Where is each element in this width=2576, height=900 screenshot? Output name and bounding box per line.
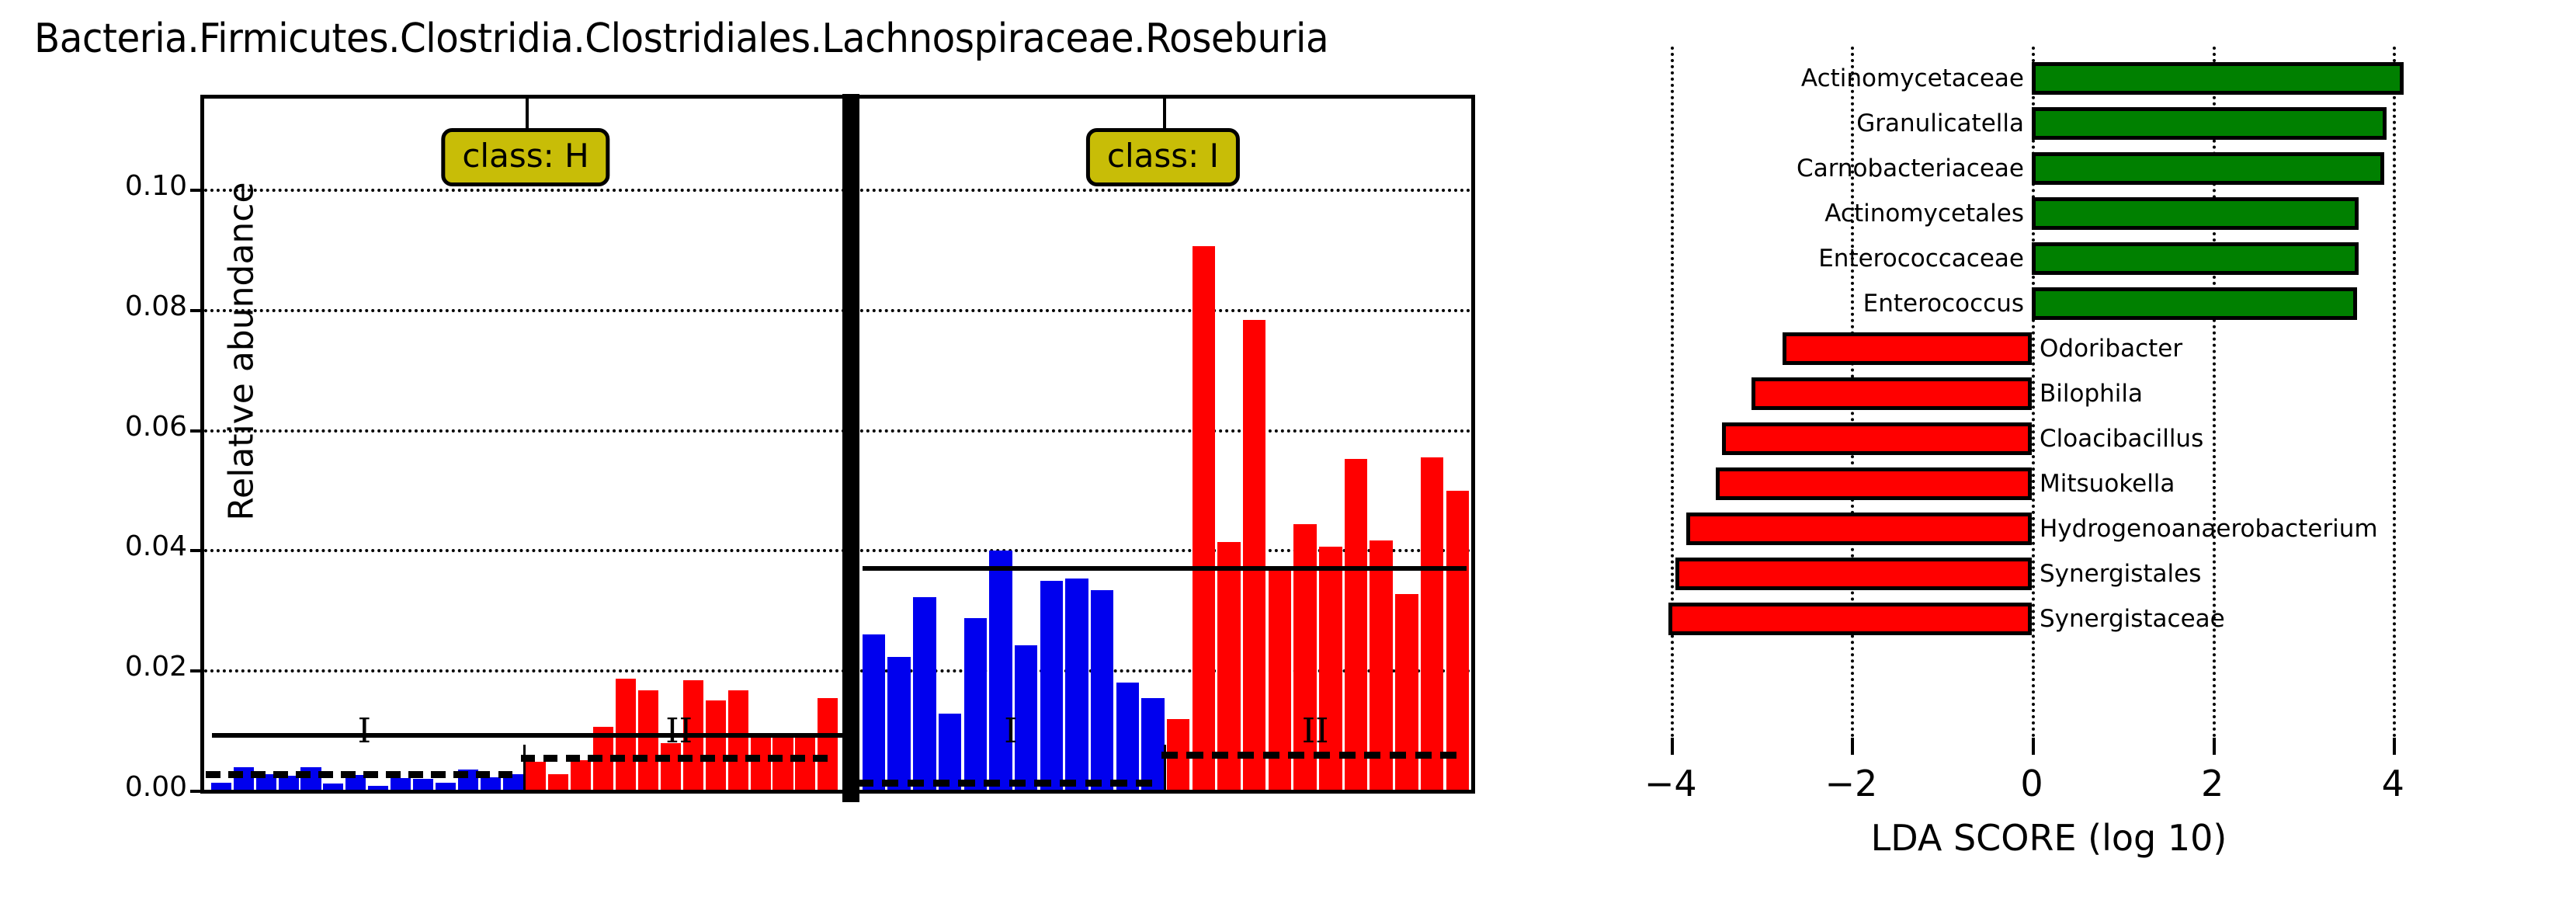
y-tick-mark	[190, 309, 204, 312]
median-marker	[610, 755, 625, 762]
y-tick-label: 0.04	[125, 530, 187, 562]
median-marker	[1339, 752, 1356, 759]
median-marker	[933, 780, 950, 787]
lda-bar	[1722, 422, 2032, 455]
median-marker	[588, 755, 602, 762]
class-mean-line	[212, 733, 842, 738]
abundance-plot-area: Relative abundance 0.000.020.040.060.080…	[200, 95, 1475, 794]
lda-bar-label: Actinomycetaceae	[1801, 62, 2024, 95]
abundance-bar	[1243, 320, 1265, 790]
lda-bar	[2032, 152, 2384, 185]
median-marker	[1314, 752, 1330, 759]
abundance-bar	[728, 690, 748, 790]
abundance-bar	[1446, 491, 1469, 790]
class-label-stem-h	[526, 99, 529, 130]
y-tick-label: 0.02	[125, 651, 187, 683]
abundance-bar	[548, 774, 568, 790]
median-marker	[1415, 752, 1432, 759]
abundance-bar	[939, 714, 961, 790]
lda-bar-label: Carnobacteriaceae	[1797, 152, 2024, 185]
abundance-bar	[989, 551, 1012, 790]
median-marker	[984, 780, 1000, 787]
median-marker	[1009, 780, 1026, 787]
median-marker	[1288, 752, 1304, 759]
abundance-bar	[391, 778, 411, 790]
abundance-bar	[211, 783, 231, 790]
abundance-bar	[887, 657, 910, 790]
y-tick-mark	[190, 549, 204, 552]
y-tick-label: 0.10	[125, 170, 187, 202]
lda-tick-mark	[2032, 738, 2035, 755]
panel-class-i: class: I	[855, 99, 1471, 790]
lda-tick-label: −4	[1624, 763, 1717, 804]
x-group-label: I	[318, 711, 411, 751]
median-marker	[1440, 752, 1456, 759]
lda-bar	[1686, 513, 2032, 545]
abundance-bar	[772, 738, 793, 790]
abundance-bar	[1065, 579, 1088, 790]
median-marker	[790, 755, 805, 762]
median-marker	[1034, 780, 1050, 787]
lda-gridline	[2032, 47, 2035, 738]
abundance-bar	[1193, 246, 1215, 790]
median-marker	[745, 755, 760, 762]
lda-bar	[1668, 603, 2032, 635]
lda-bar	[1783, 332, 2032, 365]
lda-bar-label: Mitsuokella	[2040, 467, 2175, 500]
abundance-bar	[526, 762, 546, 790]
median-marker	[882, 780, 898, 787]
median-marker	[453, 771, 468, 778]
lda-bar	[1751, 377, 2032, 410]
relative-abundance-chart: Relative abundance 0.000.020.040.060.080…	[0, 0, 1522, 900]
median-marker	[1263, 752, 1279, 759]
median-marker	[408, 771, 423, 778]
class-label-stem-i	[1163, 99, 1166, 130]
y-tick-label: 0.08	[125, 290, 187, 322]
lda-bar-label: Odoribacter	[2040, 332, 2182, 365]
y-tick-mark	[190, 790, 204, 793]
lda-bar-label: Synergistales	[2040, 558, 2201, 590]
abundance-bar	[1421, 457, 1443, 790]
median-marker	[296, 771, 311, 778]
abundance-bar	[300, 767, 321, 790]
abundance-bar	[368, 786, 388, 790]
lda-tick-label: 4	[2346, 763, 2439, 804]
abundance-bar	[1395, 594, 1418, 790]
median-marker	[498, 771, 513, 778]
y-tick-mark	[190, 669, 204, 672]
abundance-bar	[913, 597, 936, 790]
lda-bar-label: Bilophila	[2040, 377, 2143, 410]
lda-tick-label: −2	[1804, 763, 1897, 804]
median-marker	[1186, 752, 1203, 759]
abundance-bar	[323, 784, 343, 790]
median-marker	[723, 755, 738, 762]
median-marker	[655, 755, 670, 762]
lda-bar-label: Enterococcaceae	[1818, 242, 2024, 275]
median-marker	[1238, 752, 1254, 759]
panel-divider	[842, 94, 859, 802]
lda-tick-label: 0	[1985, 763, 2078, 804]
lda-bar	[2032, 107, 2387, 140]
lda-x-axis-label: LDA SCORE (log 10)	[1522, 817, 2576, 859]
abundance-bar	[1116, 683, 1139, 790]
abundance-bar	[436, 783, 456, 790]
abundance-bar	[1091, 590, 1113, 790]
bars-class-i	[855, 99, 1471, 790]
median-marker	[1390, 752, 1406, 759]
lda-bar-label: Actinomycetales	[1824, 197, 2024, 230]
abundance-bar	[964, 618, 987, 790]
lda-tick-mark	[2393, 738, 2396, 755]
group-separator	[1164, 745, 1166, 790]
median-marker	[700, 755, 715, 762]
lda-tick-label: 2	[2166, 763, 2259, 804]
median-marker	[958, 780, 974, 787]
median-marker	[363, 771, 378, 778]
lda-bar-label: Enterococcus	[1863, 287, 2024, 320]
lda-tick-mark	[1671, 738, 1674, 755]
median-marker	[813, 755, 828, 762]
median-marker	[431, 771, 446, 778]
lda-tick-mark	[1851, 738, 1854, 755]
median-marker	[1136, 780, 1152, 787]
median-marker	[273, 771, 288, 778]
median-marker	[566, 755, 581, 762]
median-marker	[251, 771, 266, 778]
class-mean-line	[863, 566, 1467, 571]
lda-bar	[1675, 558, 2032, 590]
median-marker	[341, 771, 356, 778]
median-marker	[543, 755, 558, 762]
lda-bar	[2032, 287, 2357, 320]
lda-bar	[2032, 242, 2359, 275]
lda-plot-area: ActinomycetaceaeGranulicatellaCarnobacte…	[1616, 47, 2447, 738]
x-group-label: II	[1269, 711, 1362, 751]
panel-class-h: class: H	[204, 99, 847, 790]
median-marker	[1212, 752, 1228, 759]
lda-bar	[2032, 62, 2404, 95]
lda-bar-label: Cloacibacillus	[2040, 422, 2203, 455]
y-tick-mark	[190, 429, 204, 433]
x-group-label: II	[633, 711, 726, 751]
group-separator	[523, 745, 526, 790]
median-marker	[1085, 780, 1102, 787]
abundance-bar	[863, 634, 885, 790]
class-label-i: class: I	[1086, 128, 1240, 186]
abundance-bar	[818, 698, 838, 790]
y-tick-mark	[190, 189, 204, 192]
median-marker	[228, 771, 243, 778]
x-group-label: I	[964, 711, 1057, 751]
class-label-h: class: H	[441, 128, 609, 186]
median-marker	[476, 771, 491, 778]
median-marker	[206, 771, 220, 778]
abundance-bar	[413, 779, 433, 790]
median-marker	[1110, 780, 1127, 787]
lda-bar-label: Synergistaceae	[2040, 603, 2225, 635]
lda-bar-label: Granulicatella	[1856, 107, 2024, 140]
median-marker	[768, 755, 783, 762]
lda-bar-label: Hydrogenoanaerobacterium	[2040, 513, 2378, 545]
abundance-bar	[1141, 698, 1164, 790]
lda-gridline	[2393, 47, 2396, 738]
median-marker	[1060, 780, 1076, 787]
y-tick-label: 0.00	[125, 771, 187, 803]
median-marker	[1364, 752, 1380, 759]
y-tick-label: 0.06	[125, 411, 187, 443]
median-marker	[318, 771, 333, 778]
lda-tick-mark	[2213, 738, 2216, 755]
lda-score-chart: ActinomycetaceaeGranulicatellaCarnobacte…	[1522, 0, 2576, 900]
median-marker	[633, 755, 647, 762]
lda-bar	[2032, 197, 2359, 230]
median-marker	[908, 780, 924, 787]
bars-class-h	[204, 99, 847, 790]
abundance-bar	[751, 738, 771, 790]
abundance-bar	[481, 777, 501, 790]
abundance-bar	[1040, 581, 1063, 790]
abundance-bar	[571, 760, 591, 790]
median-marker	[386, 771, 401, 778]
lda-bar	[1716, 467, 2032, 500]
median-marker	[678, 755, 693, 762]
